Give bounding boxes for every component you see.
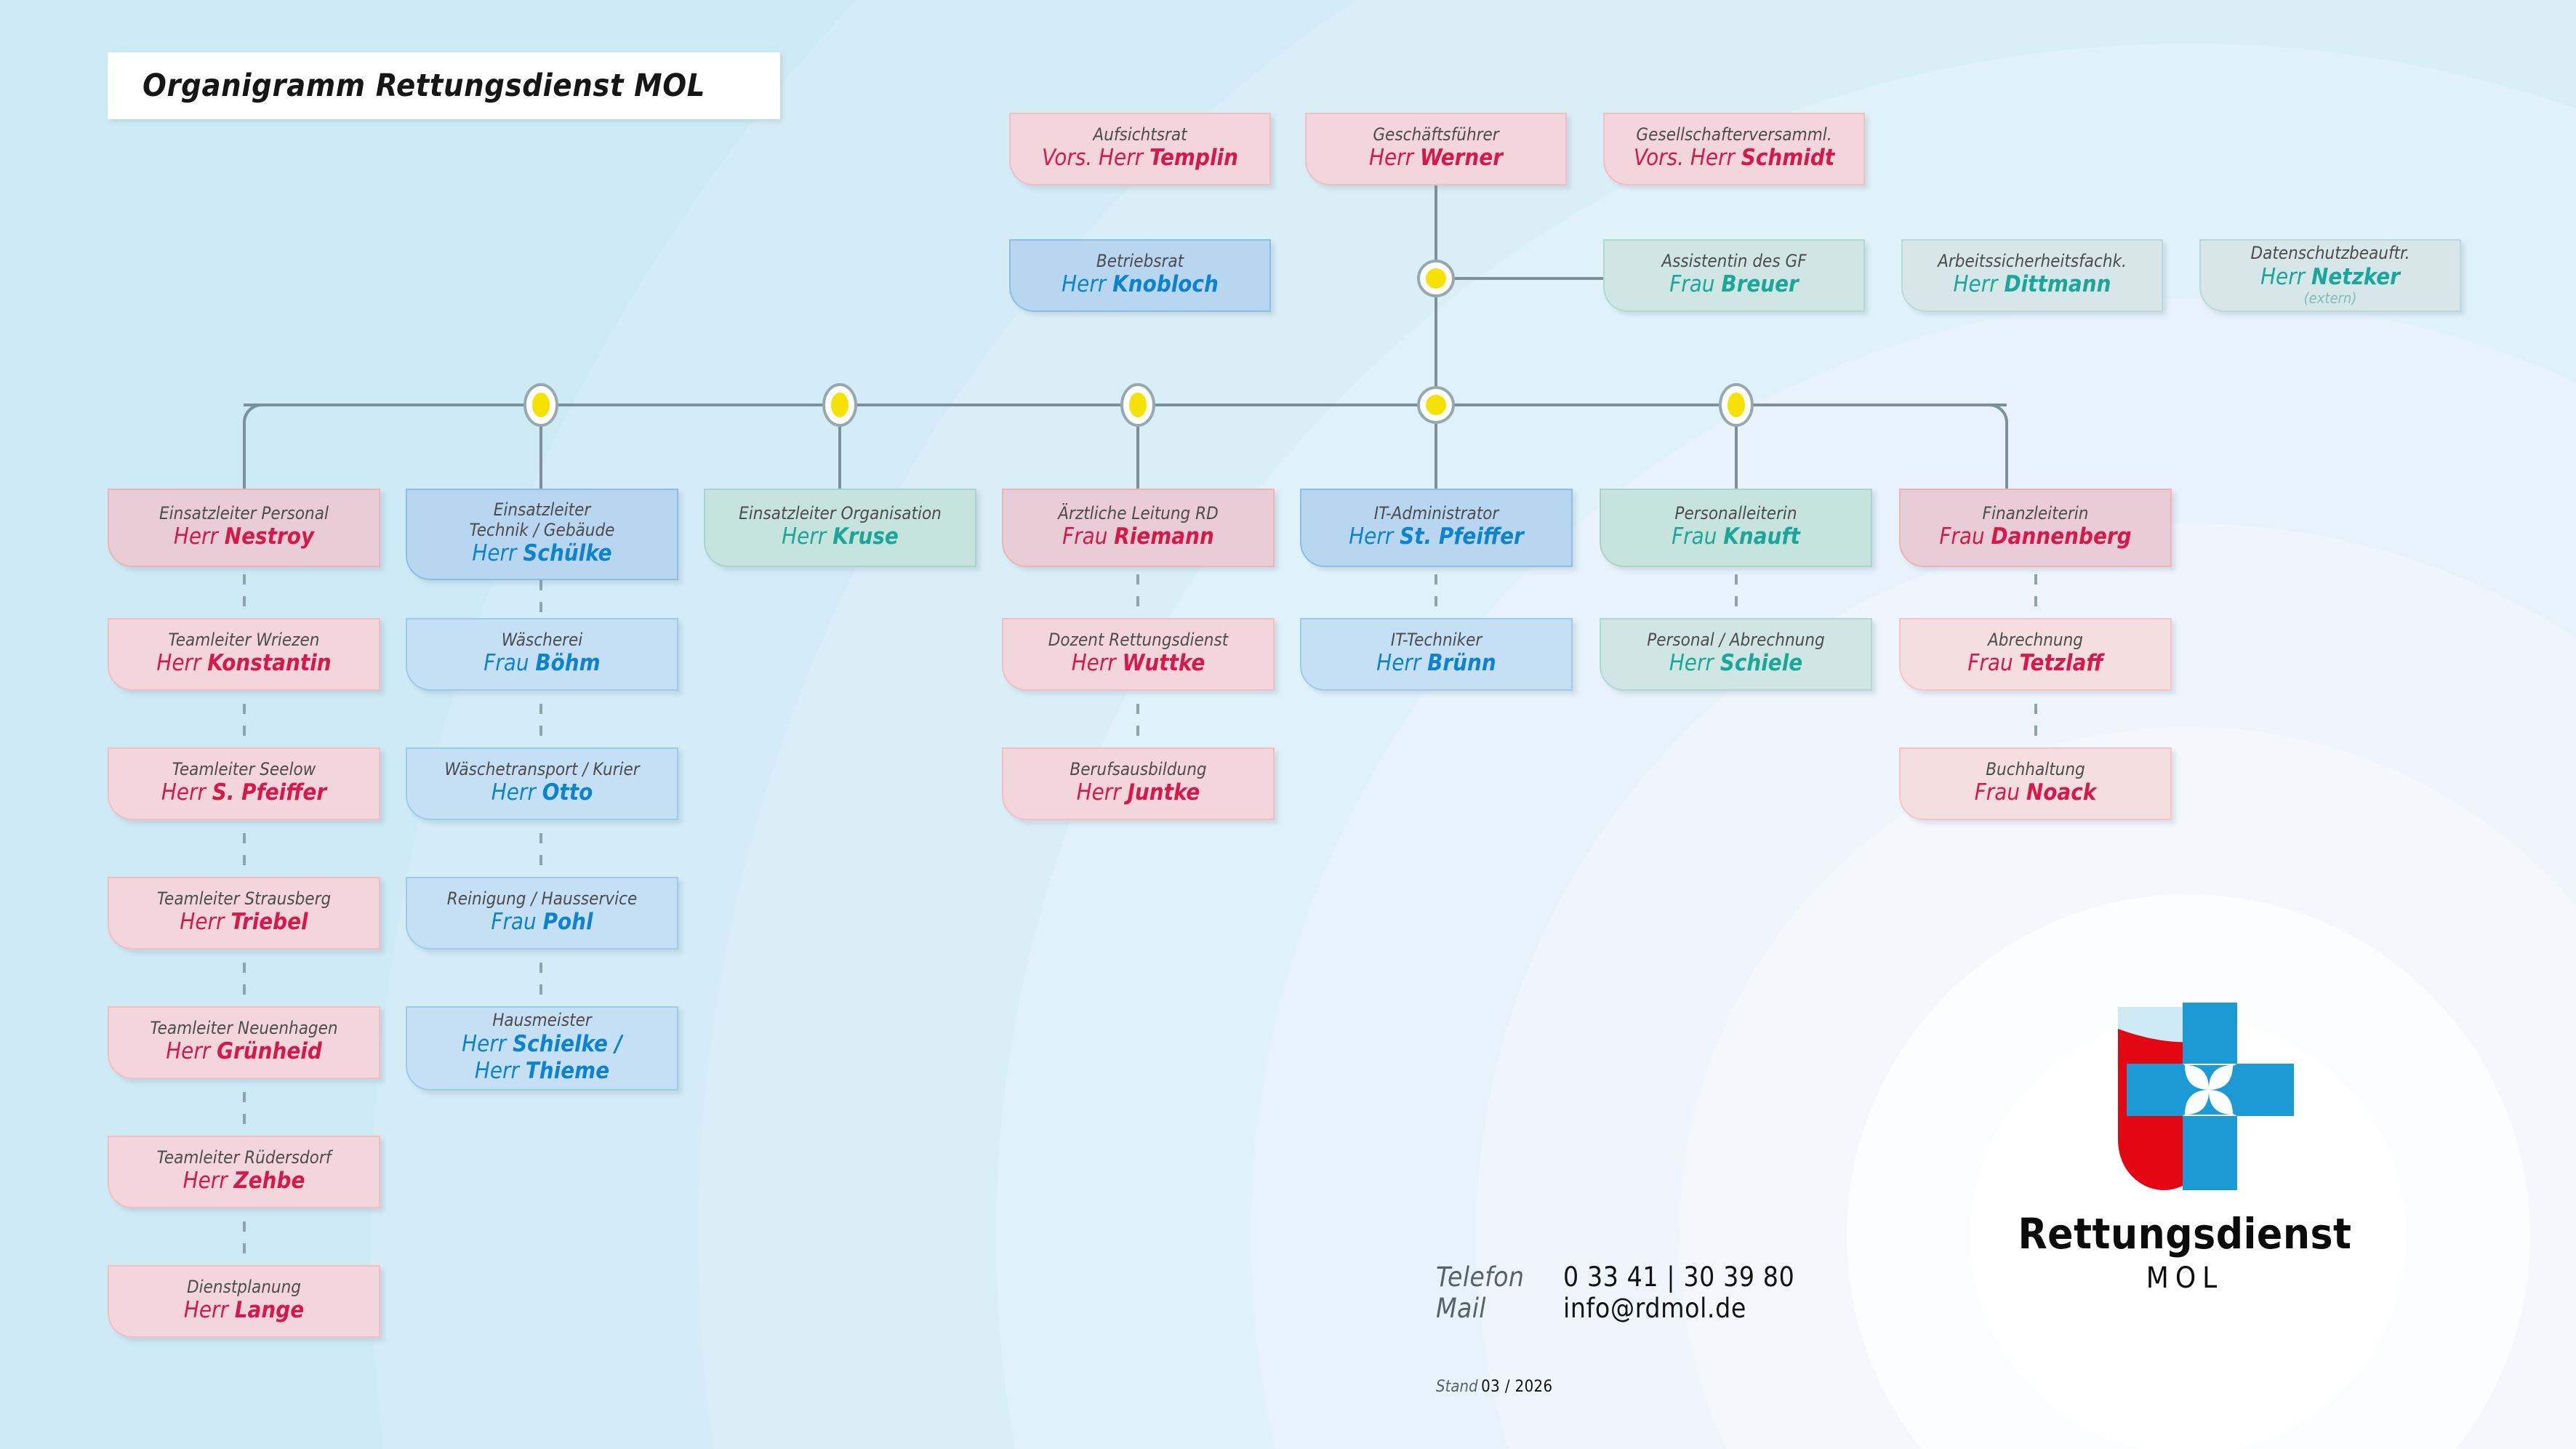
node-subnote: (extern) [2304, 290, 2357, 306]
node-dienstplanung[interactable]: Dienstplanung Herr Lange [108, 1265, 380, 1338]
node-person: Frau Riemann [1062, 524, 1214, 550]
node-einsatzleiter-technik-gebaeude[interactable]: Einsatzleiter Technik / Gebäude Herr Sch… [406, 489, 678, 580]
node-person-line2: Herr Thieme [475, 1059, 609, 1085]
page-title-text: Organigramm Rettungsdienst MOL [108, 68, 705, 104]
node-role: Dozent Rettungsdienst [1048, 630, 1228, 651]
node-person: Frau Knauft [1672, 524, 1800, 550]
node-person: Frau Böhm [483, 651, 600, 677]
contact-phone-label: Telefon [1436, 1261, 1563, 1293]
brand-logo: Rettungsdienst MOL [1981, 1000, 2388, 1295]
node-role: Betriebsrat [1096, 252, 1184, 272]
node-person: Herr Brünn [1376, 651, 1496, 677]
node-role: Dienstplanung [187, 1277, 301, 1298]
node-person: Herr S. Pfeiffer [161, 780, 326, 806]
node-role: Abrechnung [1988, 630, 2083, 651]
node-role: Personalleiterin [1674, 504, 1797, 524]
node-person: Frau Dannenberg [1939, 524, 2131, 550]
node-person: Herr Schiele [1669, 651, 1802, 677]
node-role: Teamleiter Wriezen [169, 630, 320, 651]
node-buchhaltung[interactable]: Buchhaltung Frau Noack [1899, 747, 2172, 820]
node-waescherei[interactable]: Wäscherei Frau Böhm [406, 618, 678, 691]
node-person: Herr Lange [184, 1298, 304, 1324]
node-person: Herr Konstantin [156, 651, 331, 677]
node-person: Herr Schülke [472, 541, 611, 567]
contact-block: Telefon 0 33 41 | 30 39 80 Mail info@rdm… [1436, 1261, 1794, 1324]
node-waeschetransport-kurier[interactable]: Wäschetransport / Kurier Herr Otto [406, 747, 678, 820]
node-person: Herr Kruse [782, 524, 899, 550]
logo-line-1: Rettungsdienst [1981, 1209, 2388, 1259]
node-gesellschafterversammlung[interactable]: Gesellschafterversamml. Vors. Herr Schmi… [1603, 113, 1865, 185]
node-role: Geschäftsführer [1373, 125, 1498, 145]
node-role-line2: Technik / Gebäude [470, 521, 615, 541]
node-person: Herr Zehbe [183, 1168, 305, 1195]
node-finanzleiterin[interactable]: Finanzleiterin Frau Dannenberg [1899, 489, 2172, 567]
node-person: Frau Pohl [491, 910, 593, 936]
node-person: Herr Grünheid [166, 1039, 322, 1065]
node-role: Wäscherei [502, 630, 583, 651]
node-person: Frau Noack [1975, 780, 2097, 806]
node-reinigung-hausservice[interactable]: Reinigung / Hausservice Frau Pohl [406, 877, 678, 950]
node-it-administrator[interactable]: IT-Administrator Herr St. Pfeiffer [1300, 489, 1573, 567]
node-it-techniker[interactable]: IT-Techniker Herr Brünn [1300, 618, 1573, 691]
node-role: Buchhaltung [1986, 760, 2085, 780]
node-role: Aufsichtsrat [1093, 125, 1187, 145]
contact-mail-label: Mail [1436, 1293, 1563, 1324]
node-person: Frau Breuer [1669, 272, 1799, 298]
node-person: Herr Schielke / [462, 1032, 622, 1058]
node-betriebsrat[interactable]: Betriebsrat Herr Knobloch [1009, 239, 1271, 312]
node-datenschutzbeauftragter[interactable]: Datenschutzbeauftr. Herr Netzker (extern… [2199, 239, 2461, 312]
node-role: IT-Administrator [1374, 504, 1498, 524]
node-person: Herr Juntke [1077, 780, 1200, 806]
node-person: Herr Werner [1369, 145, 1503, 172]
node-role: Einsatzleiter Organisation [739, 504, 942, 524]
node-aerztliche-leitung-rd[interactable]: Ärztliche Leitung RD Frau Riemann [1002, 489, 1275, 567]
node-role: Datenschutzbeauftr. [2250, 244, 2410, 264]
node-role: IT-Techniker [1391, 630, 1482, 651]
node-dozent-rettungsdienst[interactable]: Dozent Rettungsdienst Herr Wuttke [1002, 618, 1275, 691]
node-role: Berufsausbildung [1070, 760, 1206, 780]
page-title: Organigramm Rettungsdienst MOL [108, 52, 780, 119]
node-person: Frau Tetzlaff [1967, 651, 2103, 677]
node-role: Gesellschafterversamml. [1636, 125, 1831, 145]
contact-phone-value[interactable]: 0 33 41 | 30 39 80 [1563, 1261, 1794, 1293]
node-role: Finanzleiterin [1983, 504, 2089, 524]
revision-value: 03 / 2026 [1481, 1378, 1552, 1396]
node-role: Personal / Abrechnung [1647, 630, 1825, 651]
revision-label: Stand [1436, 1378, 1478, 1396]
contact-phone-row: Telefon 0 33 41 | 30 39 80 [1436, 1261, 1794, 1293]
node-person: Herr Triebel [180, 910, 308, 936]
node-geschaeftsfuehrer[interactable]: Geschäftsführer Herr Werner [1305, 113, 1567, 185]
node-teamleiter-seelow[interactable]: Teamleiter Seelow Herr S. Pfeiffer [108, 747, 380, 820]
node-teamleiter-ruedersdorf[interactable]: Teamleiter Rüdersdorf Herr Zehbe [108, 1136, 380, 1208]
node-role: Teamleiter Neuenhagen [150, 1019, 337, 1039]
node-role: Teamleiter Seelow [172, 760, 316, 780]
node-role: Teamleiter Rüdersdorf [157, 1148, 332, 1168]
node-hausmeister[interactable]: Hausmeister Herr Schielke / Herr Thieme [406, 1006, 678, 1091]
node-person: Herr Wuttke [1072, 651, 1205, 677]
node-role: Assistentin des GF [1661, 252, 1806, 272]
rettungsdienst-shield-cross-icon [2076, 1000, 2294, 1196]
node-person: Vors. Herr Templin [1042, 145, 1238, 172]
node-role: Hausmeister [492, 1011, 592, 1031]
node-teamleiter-neuenhagen[interactable]: Teamleiter Neuenhagen Herr Grünheid [108, 1006, 380, 1079]
node-role: Einsatzleiter [494, 500, 591, 521]
node-abrechnung[interactable]: Abrechnung Frau Tetzlaff [1899, 618, 2172, 691]
node-personalleiterin[interactable]: Personalleiterin Frau Knauft [1600, 489, 1872, 567]
node-person: Herr Nestroy [174, 524, 314, 550]
node-role: Wäschetransport / Kurier [444, 760, 639, 780]
node-person: Herr Dittmann [1954, 272, 2111, 298]
node-person: Herr Knobloch [1062, 272, 1219, 298]
node-teamleiter-strausberg[interactable]: Teamleiter Strausberg Herr Triebel [108, 877, 380, 950]
node-person: Herr Netzker [2260, 265, 2400, 291]
node-person: Vors. Herr Schmidt [1634, 145, 1834, 172]
node-person: Herr Otto [491, 780, 593, 806]
node-arbeitssicherheitsfachkraft[interactable]: Arbeitssicherheitsfachk. Herr Dittmann [1901, 239, 2163, 312]
node-role: Einsatzleiter Personal [159, 504, 329, 524]
node-role: Arbeitssicherheitsfachk. [1938, 252, 2127, 272]
contact-mail-value[interactable]: info@rdmol.de [1563, 1293, 1746, 1324]
node-role: Reinigung / Hausservice [447, 889, 638, 910]
node-berufsausbildung[interactable]: Berufsausbildung Herr Juntke [1002, 747, 1275, 820]
node-aufsichtsrat[interactable]: Aufsichtsrat Vors. Herr Templin [1009, 113, 1271, 185]
node-einsatzleiter-organisation[interactable]: Einsatzleiter Organisation Herr Kruse [704, 489, 976, 567]
contact-mail-row: Mail info@rdmol.de [1436, 1293, 1794, 1324]
revision-stamp: Stand 03 / 2026 [1436, 1378, 1553, 1396]
logo-line-2: MOL [1981, 1261, 2388, 1295]
node-role: Ärztliche Leitung RD [1058, 504, 1218, 524]
node-teamleiter-wriezen[interactable]: Teamleiter Wriezen Herr Konstantin [108, 618, 380, 691]
node-role: Teamleiter Strausberg [157, 889, 331, 910]
node-einsatzleiter-personal[interactable]: Einsatzleiter Personal Herr Nestroy [108, 489, 380, 567]
node-person: Herr St. Pfeiffer [1349, 524, 1524, 550]
node-personal-abrechnung[interactable]: Personal / Abrechnung Herr Schiele [1600, 618, 1872, 691]
node-assistentin-gf[interactable]: Assistentin des GF Frau Breuer [1603, 239, 1865, 312]
